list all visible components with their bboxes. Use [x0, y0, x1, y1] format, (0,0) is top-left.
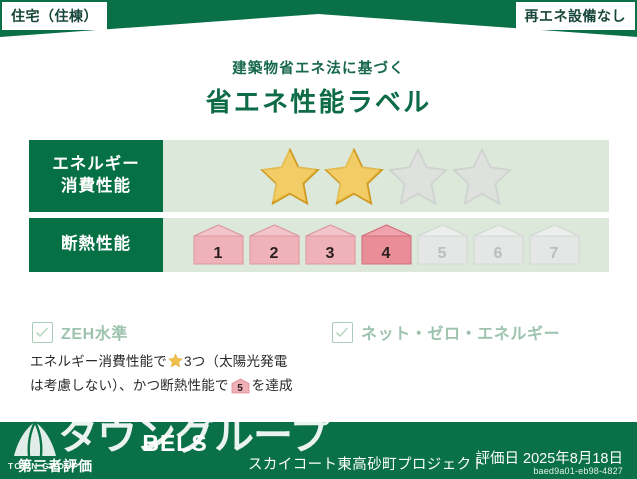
insulation-level-number: 7: [528, 246, 581, 262]
evaluation-id: baed9a01-eb98-4827: [533, 466, 623, 476]
desc-part-1: エネルギー消費性能で: [30, 354, 167, 369]
inline-house-number: 5: [231, 384, 250, 394]
insulation-levels: 1234567: [163, 218, 609, 272]
insulation-level-number: 3: [304, 246, 357, 262]
insulation-level-badge: 6: [472, 223, 525, 267]
zeh-label: ZEH水準: [61, 320, 128, 344]
header-tag-renewable-equipment: 再エネ設備なし: [516, 2, 636, 30]
insulation-level-number: 5: [416, 246, 469, 262]
footer-bar: BELS 第三者評価 スカイコート東高砂町プロジェクト 評価日 2025年8月1…: [0, 422, 637, 479]
star-filled-icon: [259, 146, 321, 206]
insulation-label: 断熱性能: [29, 218, 163, 272]
insulation-level-badge: 4: [360, 223, 413, 267]
inline-star-icon: [168, 353, 183, 375]
energy-performance-label: 住宅（住棟） 再エネ設備なし 建築物省エネ法に基づく 省エネ性能ラベル エネルギ…: [0, 0, 637, 479]
star-empty-icon: [387, 146, 449, 206]
energy-consumption-label: エネルギー 消費性能: [29, 140, 163, 212]
bels-text: BELS: [132, 432, 218, 455]
achievement-description: エネルギー消費性能で 3つ（太陽光発電 は考慮しない）、かつ断熱性能で 5 を達…: [30, 351, 370, 397]
zeh-checkbox[interactable]: [32, 322, 53, 343]
project-name: スカイコート東高砂町プロジェクト: [248, 453, 486, 474]
header-tag-building-type: 住宅（住棟）: [2, 2, 107, 30]
third-party-evaluation-label: 第三者評価: [18, 456, 93, 476]
insulation-level-badge: 5: [416, 223, 469, 267]
star-rating: [163, 140, 609, 212]
desc-part-2: 3つ（太陽光発電: [184, 354, 288, 369]
label-body: 建築物省エネ法に基づく 省エネ性能ラベル エネルギー 消費性能 断熱性能 123…: [0, 37, 637, 422]
star-filled-icon: [323, 146, 385, 206]
star-empty-icon: [451, 146, 513, 206]
insulation-row: 断熱性能 1234567: [29, 218, 609, 272]
insulation-level-number: 2: [248, 246, 301, 262]
page-title: 省エネ性能ラベル: [0, 82, 637, 119]
net-zero-check-item[interactable]: ネット・ゼロ・エネルギー: [332, 320, 560, 344]
bels-logo: BELS: [132, 432, 218, 455]
title-subtitle: 建築物省エネ法に基づく: [0, 57, 637, 78]
inline-house-badge: 5: [231, 378, 250, 394]
rating-rows: エネルギー 消費性能 断熱性能 1234567: [29, 140, 609, 272]
title-block: 建築物省エネ法に基づく 省エネ性能ラベル: [0, 57, 637, 119]
insulation-level-badge: 2: [248, 223, 301, 267]
insulation-level-number: 4: [360, 246, 413, 262]
energy-label-line1: エネルギー: [52, 154, 140, 176]
insulation-label-text: 断熱性能: [61, 234, 131, 256]
insulation-level-number: 6: [472, 246, 525, 262]
desc-part-4: を達成: [252, 378, 293, 393]
insulation-level-badge: 3: [304, 223, 357, 267]
energy-label-line2: 消費性能: [61, 176, 131, 198]
net-zero-checkbox[interactable]: [332, 322, 353, 343]
insulation-level-number: 1: [192, 246, 245, 262]
evaluation-date: 評価日 2025年8月18日: [476, 447, 623, 468]
desc-part-3: は考慮しない）、かつ断熱性能で: [30, 378, 229, 393]
net-zero-label: ネット・ゼロ・エネルギー: [361, 320, 560, 344]
insulation-level-badge: 1: [192, 223, 245, 267]
certification-checks: ZEH水準 ネット・ゼロ・エネルギー: [32, 320, 607, 344]
zeh-check-item[interactable]: ZEH水準: [32, 320, 332, 344]
energy-consumption-row: エネルギー 消費性能: [29, 140, 609, 212]
insulation-level-badge: 7: [528, 223, 581, 267]
